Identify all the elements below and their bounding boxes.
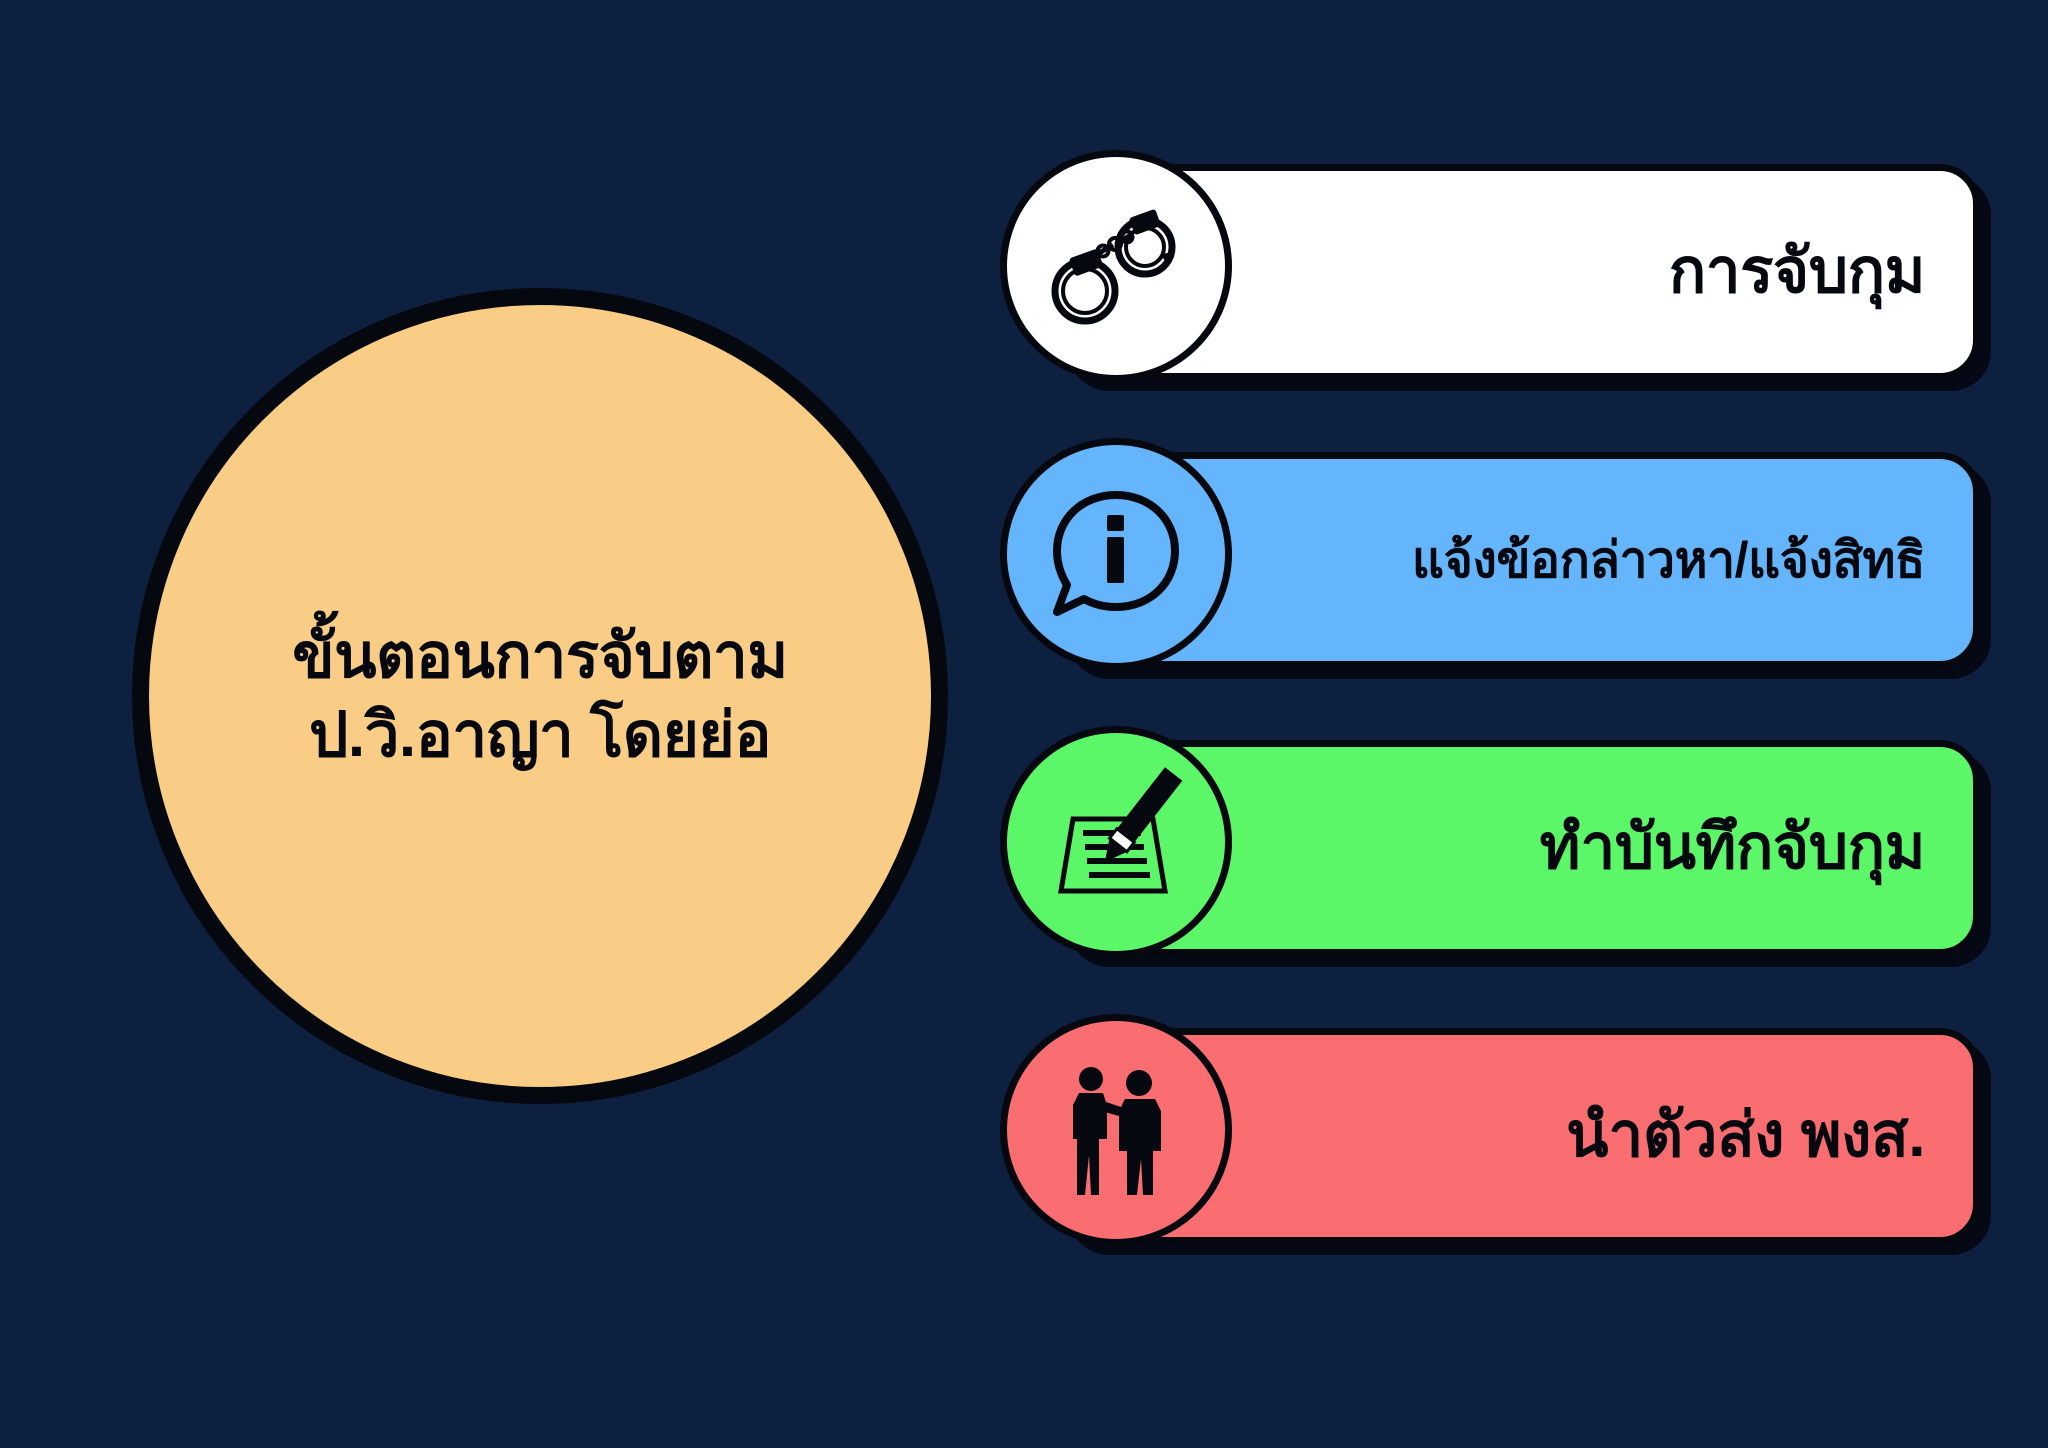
steps-list: การจับกุม bbox=[1000, 150, 1980, 1246]
step-badge-arrest-record bbox=[1000, 726, 1232, 958]
step-row: การจับกุม bbox=[1000, 150, 1980, 382]
step-row: นำตัวส่ง พงส. bbox=[1000, 1014, 1980, 1246]
info-speech-bubble-icon bbox=[1041, 479, 1191, 629]
step-label: การจับกุม bbox=[1669, 241, 1925, 303]
step-label: นำตัวส่ง พงส. bbox=[1566, 1105, 1925, 1167]
step-row: ทำบันทึกจับกุม bbox=[1000, 726, 1980, 958]
document-pen-icon bbox=[1041, 767, 1191, 917]
step-label: ทำบันทึกจับกุม bbox=[1540, 817, 1925, 879]
hub-title: ขั้นตอนการจับตาม ป.วิ.อาญา โดยย่อ bbox=[252, 617, 827, 776]
hub-circle-wrapper: ขั้นตอนการจับตาม ป.วิ.อาญา โดยย่อ bbox=[132, 288, 948, 1104]
hub-title-line-2: ป.วิ.อาญา โดยย่อ bbox=[292, 696, 787, 775]
step-badge-deliver-to-inquiry-officer bbox=[1000, 1014, 1232, 1246]
step-label: แจ้งข้อกล่าวหา/แจ้งสิทธิ bbox=[1412, 535, 1925, 585]
step-row: แจ้งข้อกล่าวหา/แจ้งสิทธิ bbox=[1000, 438, 1980, 670]
hub-title-line-1: ขั้นตอนการจับตาม bbox=[292, 617, 787, 696]
step-badge-arrest bbox=[1000, 150, 1232, 382]
hub-circle: ขั้นตอนการจับตาม ป.วิ.อาญา โดยย่อ bbox=[132, 288, 948, 1104]
step-badge-notify-charges bbox=[1000, 438, 1232, 670]
infographic-root: ขั้นตอนการจับตาม ป.วิ.อาญา โดยย่อ การจับ… bbox=[0, 0, 2048, 1448]
two-people-walking-icon bbox=[1041, 1055, 1191, 1205]
handcuffs-icon bbox=[1041, 191, 1191, 341]
